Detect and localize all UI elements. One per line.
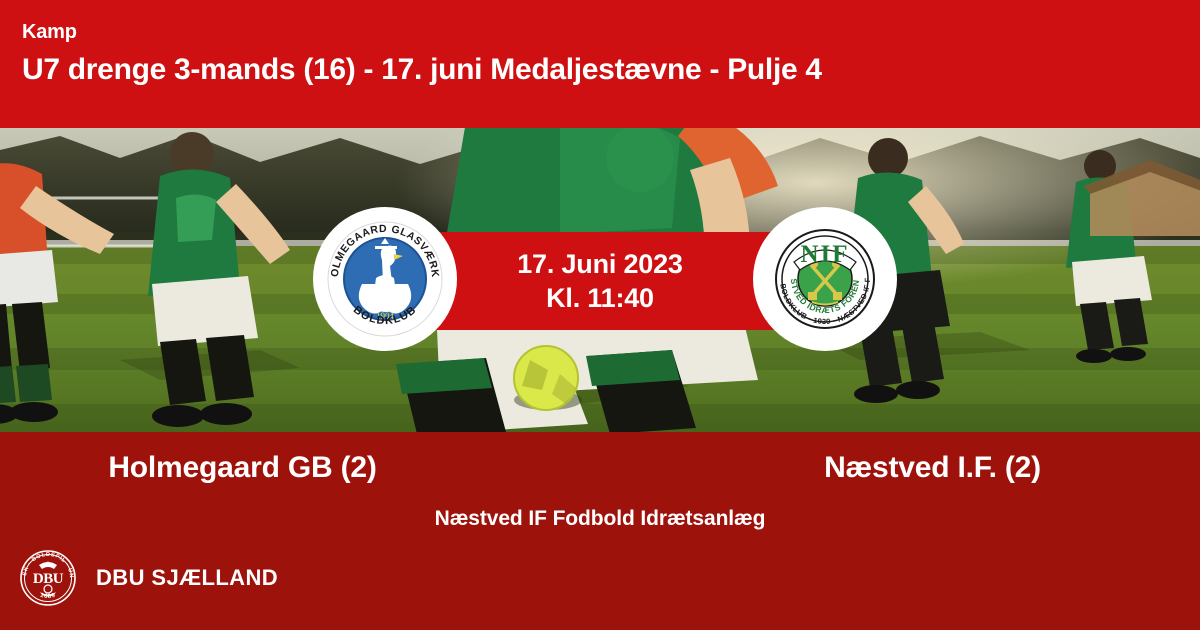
dbu-logo-icon: DBU DANSK · BOLDSPIL · UNION 1889 — [18, 548, 78, 608]
teams-row: Holmegaard GB (2) Næstved I.F. (2) — [0, 448, 1200, 488]
home-team-crest: 1904 HOLMEGAARD GLASVÆRKS BOLDKLUB — [313, 207, 457, 351]
svg-text:1889: 1889 — [39, 593, 56, 600]
venue-name: Næstved IF Fodbold Idrætsanlæg — [0, 506, 1200, 532]
naestved-if-icon: NIF GLASVED BOLDKLUB · 1939 · NÆSTVED IF… — [764, 218, 886, 340]
header-kicker: Kamp — [22, 20, 1200, 44]
match-time: Kl. 11:40 — [546, 281, 654, 315]
holmegaard-glasvaerks-boldklub-icon: 1904 HOLMEGAARD GLASVÆRKS BOLDKLUB — [324, 218, 446, 340]
home-team-name: Holmegaard GB (2) — [0, 448, 600, 488]
page-title: U7 drenge 3-mands (16) - 17. juni Medalj… — [22, 50, 1200, 90]
brand-label: DBU SJÆLLAND — [96, 565, 278, 591]
svg-text:NIF: NIF — [800, 241, 849, 268]
card-header: Kamp U7 drenge 3-mands (16) - 17. juni M… — [0, 0, 1200, 128]
away-team-crest: NIF GLASVED BOLDKLUB · 1939 · NÆSTVED IF… — [753, 207, 897, 351]
brand-block: DBU DANSK · BOLDSPIL · UNION 1889 DBU SJ… — [18, 548, 278, 608]
away-team-name: Næstved I.F. (2) — [600, 448, 1200, 488]
match-datetime-banner: 17. Juni 2023 Kl. 11:40 — [425, 232, 775, 330]
svg-text:DBU: DBU — [33, 571, 64, 587]
match-date: 17. Juni 2023 — [517, 247, 683, 281]
match-card: Kamp U7 drenge 3-mands (16) - 17. juni M… — [0, 0, 1200, 630]
